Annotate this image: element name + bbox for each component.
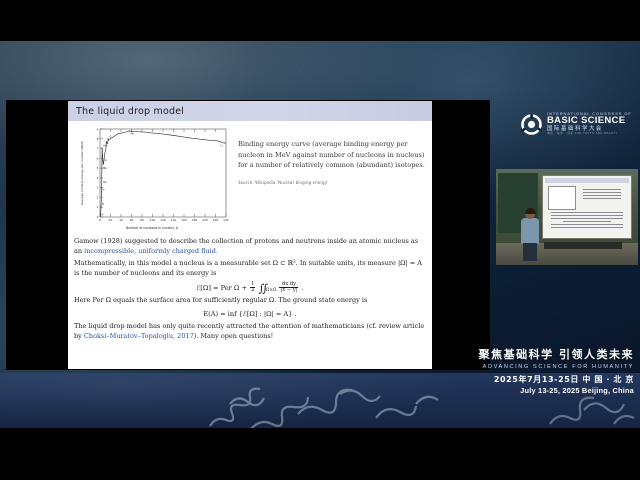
svg-text:120: 120 bbox=[160, 218, 166, 222]
svg-text:Li: Li bbox=[105, 158, 107, 162]
svg-text:Fe: Fe bbox=[131, 132, 134, 136]
chart-ylabel: Average binding energy per nucleon (MeV) bbox=[80, 141, 84, 205]
logo-line-basic-science: BASIC SCIENCE bbox=[547, 116, 632, 126]
paragraph-perimeter: Here Per Ω equals the surface area for s… bbox=[74, 296, 426, 306]
slide-title: The liquid drop model bbox=[76, 106, 184, 117]
svg-text:60: 60 bbox=[130, 218, 134, 222]
slogan-english: ADVANCING SCIENCE FOR HUMANITY bbox=[464, 364, 634, 370]
congress-logo-text: INTERNATIONAL CONGRESS OF BASIC SCIENCE … bbox=[547, 112, 632, 136]
svg-text:Be: Be bbox=[103, 166, 107, 170]
svg-text:220: 220 bbox=[213, 218, 219, 222]
presenter-figure bbox=[520, 209, 540, 261]
svg-text:He: He bbox=[103, 180, 107, 184]
pip-slide-text bbox=[547, 210, 627, 230]
slogan-chinese: 聚焦基础科学 引领人类未来 bbox=[464, 346, 634, 362]
svg-text:H: H bbox=[102, 202, 104, 206]
pip-desk bbox=[544, 242, 622, 249]
pip-slide-chart bbox=[548, 186, 576, 210]
eq1-denominator: 2 bbox=[250, 288, 255, 293]
pip-slide-caption bbox=[579, 187, 625, 207]
binding-energy-chart: 02040 6080100 120140160 180200220 240 01… bbox=[74, 125, 232, 233]
svg-text:U: U bbox=[221, 143, 223, 147]
svg-text:H: H bbox=[101, 213, 103, 217]
slide-prose: Gamow (1928) suggested to describe the c… bbox=[74, 237, 426, 342]
svg-text:He: He bbox=[103, 143, 107, 147]
svg-text:80: 80 bbox=[140, 218, 144, 222]
eq1-integral-domain: Ω×Ω bbox=[266, 286, 276, 291]
para4-citation: Choksi–Muratov–Topaloglu, 2017 bbox=[84, 332, 194, 340]
svg-text:1: 1 bbox=[97, 205, 99, 209]
svg-text:100: 100 bbox=[150, 218, 156, 222]
svg-text:20: 20 bbox=[109, 218, 113, 222]
pip-projection-screen bbox=[542, 175, 632, 239]
svg-text:200: 200 bbox=[202, 218, 208, 222]
eq1-lhs: ℰ[Ω] = Per Ω + bbox=[196, 283, 247, 291]
svg-text:40: 40 bbox=[119, 218, 123, 222]
slide-top-row: 02040 6080100 120140160 180200220 240 01… bbox=[74, 125, 426, 233]
congress-logo: INTERNATIONAL CONGRESS OF BASIC SCIENCE … bbox=[521, 105, 633, 143]
para4-tail: ). Many open questions! bbox=[194, 332, 274, 340]
paragraph-math-setup: Mathematically, in this model a nucleus … bbox=[74, 259, 426, 279]
video-frame: The liquid drop model bbox=[0, 41, 640, 428]
paragraph-recent-work: The liquid drop model has only quite rec… bbox=[74, 322, 426, 342]
eq1-double-integral-icon: ∬ bbox=[259, 281, 266, 294]
svg-text:7: 7 bbox=[97, 147, 99, 151]
svg-text:9: 9 bbox=[97, 128, 99, 132]
slide-body: 02040 6080100 120140160 180200220 240 01… bbox=[68, 121, 432, 342]
conference-slogan: 聚焦基础科学 引领人类未来 ADVANCING SCIENCE FOR HUMA… bbox=[464, 346, 634, 370]
chart-xlabel: Number of nucleons in nucleus, A bbox=[126, 226, 179, 230]
logo-line-tagline: 求真 · 探索 · 创新 FOR TRUTH AND BEAUTY bbox=[547, 133, 632, 136]
chart-svg: 02040 6080100 120140160 180200220 240 01… bbox=[74, 125, 232, 233]
date-english: July 13-25, 2025 Beijing, China bbox=[462, 386, 634, 395]
presenter-video-inset[interactable] bbox=[496, 169, 638, 265]
letterbox-bottom bbox=[0, 428, 640, 480]
congress-logo-mark-icon bbox=[521, 114, 542, 135]
date-chinese: 2025年7月13-25日 中 国 · 北 京 bbox=[462, 374, 634, 385]
eq1-period: . bbox=[302, 283, 304, 291]
screen: The liquid drop model bbox=[0, 0, 640, 480]
svg-text:6: 6 bbox=[97, 156, 99, 160]
svg-text:8: 8 bbox=[97, 137, 99, 141]
svg-text:0: 0 bbox=[99, 218, 101, 222]
svg-text:4: 4 bbox=[97, 176, 99, 180]
chart-caption-block: Binding energy curve (average binding en… bbox=[238, 125, 426, 233]
chart-caption-text: Binding energy curve (average binding en… bbox=[238, 139, 426, 171]
svg-text:240: 240 bbox=[223, 218, 229, 222]
slide-title-bar: The liquid drop model bbox=[68, 101, 432, 121]
conference-date-location: 2025年7月13-25日 中 国 · 北 京 July 13-25, 2025… bbox=[462, 374, 634, 396]
svg-text:O: O bbox=[109, 135, 111, 139]
eq1-kernel-denominator: |x − y| bbox=[279, 288, 298, 293]
chart-source: Source: Wikipedia 'Nuclear binging energ… bbox=[238, 180, 426, 185]
svg-text:2: 2 bbox=[97, 195, 99, 199]
letterbox-top bbox=[0, 0, 640, 41]
para2-lead: Mathematically, in this model a nucleus … bbox=[74, 259, 293, 267]
pip-slide-title-bar bbox=[545, 178, 629, 183]
svg-text:H: H bbox=[102, 188, 104, 192]
paragraph-gamow: Gamow (1928) suggested to describe the c… bbox=[74, 237, 426, 257]
svg-text:180: 180 bbox=[192, 218, 198, 222]
para1-highlight: incompressible, uniformly charged fluid. bbox=[84, 247, 218, 255]
svg-text:5: 5 bbox=[97, 166, 99, 170]
svg-text:0: 0 bbox=[97, 215, 99, 219]
svg-text:3: 3 bbox=[97, 186, 99, 190]
energy-functional-equation: ℰ[Ω] = Per Ω + 1 2 ∬Ω×Ω dx dy |x − y| . bbox=[74, 282, 426, 294]
eq1-kernel-fraction: dx dy |x − y| bbox=[279, 282, 298, 294]
eq1-half-fraction: 1 2 bbox=[250, 282, 255, 294]
presentation-slide: The liquid drop model bbox=[68, 101, 432, 369]
svg-text:160: 160 bbox=[181, 218, 187, 222]
svg-text:140: 140 bbox=[171, 218, 177, 222]
ground-state-equation: E(A) = inf {ℰ[Ω] : |Ω| = A} . bbox=[74, 309, 426, 319]
